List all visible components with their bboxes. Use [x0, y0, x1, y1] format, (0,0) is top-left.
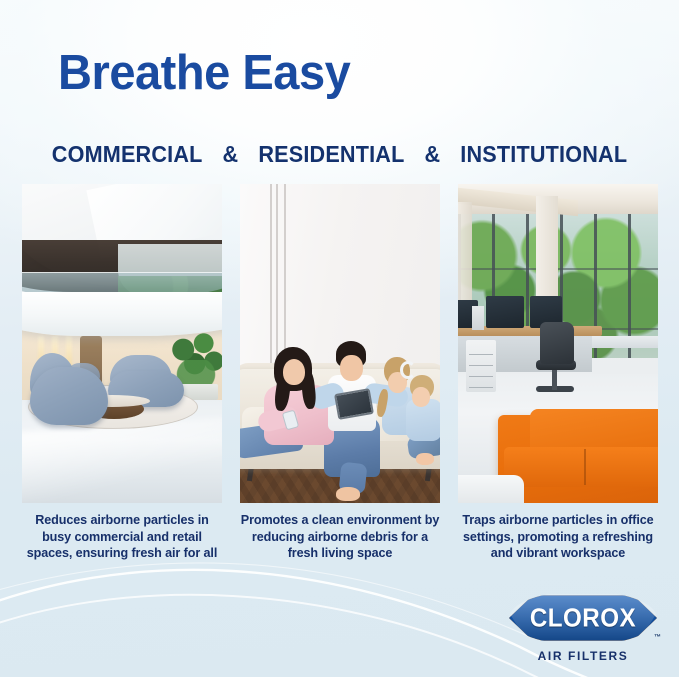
poster-canvas: Breathe Easy COMMERCIAL & RESIDENTIAL & … [0, 0, 679, 677]
clorox-diamond-icon: CLOROX ™ [509, 591, 657, 645]
page-title: Breathe Easy [58, 48, 350, 99]
trademark-symbol: ™ [654, 634, 661, 641]
brand-logo: CLOROX ™ AIR FILTERS [505, 591, 661, 663]
category-subtitle: COMMERCIAL & RESIDENTIAL & INSTITUTIONAL [27, 141, 652, 168]
category-institutional: INSTITUTIONAL [458, 141, 629, 167]
caption-institutional: Traps airborne particles in office setti… [458, 512, 658, 562]
caption-row: Reduces airborne particles in busy comme… [22, 512, 658, 562]
category-commercial: COMMERCIAL [50, 141, 204, 167]
separator-1: & [211, 141, 251, 167]
photo-institutional [458, 184, 658, 503]
category-residential: RESIDENTIAL [256, 141, 406, 167]
brand-tagline: AIR FILTERS [505, 649, 661, 663]
photo-residential [240, 184, 440, 503]
brand-name: CLOROX [514, 603, 652, 634]
separator-2: & [413, 141, 453, 167]
photo-commercial [22, 184, 222, 503]
caption-residential: Promotes a clean environment by reducing… [240, 512, 440, 562]
panel-row [22, 184, 658, 503]
caption-commercial: Reduces airborne particles in busy comme… [22, 512, 222, 562]
